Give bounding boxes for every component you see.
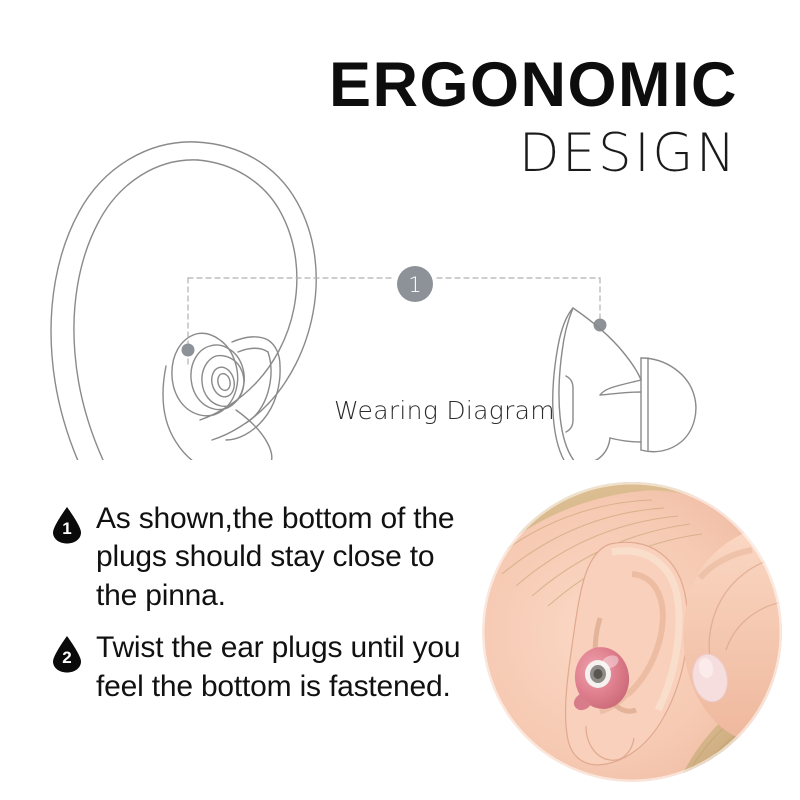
callout-dot-left [182,344,195,357]
ear-outline-icon [51,142,316,460]
leader-line-right [437,278,600,325]
teardrop-bullet-icon: 1 [52,506,82,544]
instruction-text: Twist the ear plugs until you feel the b… [96,629,472,706]
svg-text:1: 1 [408,273,421,297]
teardrop-bullet-icon: 2 [52,635,82,673]
earplug-side-view-icon [553,308,696,460]
diagram-caption: Wearing Diagram [334,396,555,425]
instruction-text: As shown,the bottom of the plugs should … [96,500,472,615]
instruction-list: 1 As shown,the bottom of the plugs shoul… [52,500,472,720]
poster-root: ERGONOMIC DESIGN [0,0,800,800]
list-item: 2 Twist the ear plugs until you feel the… [52,629,472,706]
list-item: 1 As shown,the bottom of the plugs shoul… [52,500,472,615]
ear-photo [482,482,782,782]
title-line-ergonomic: ERGONOMIC [329,52,738,118]
callout-badge-1: 1 [397,266,433,302]
